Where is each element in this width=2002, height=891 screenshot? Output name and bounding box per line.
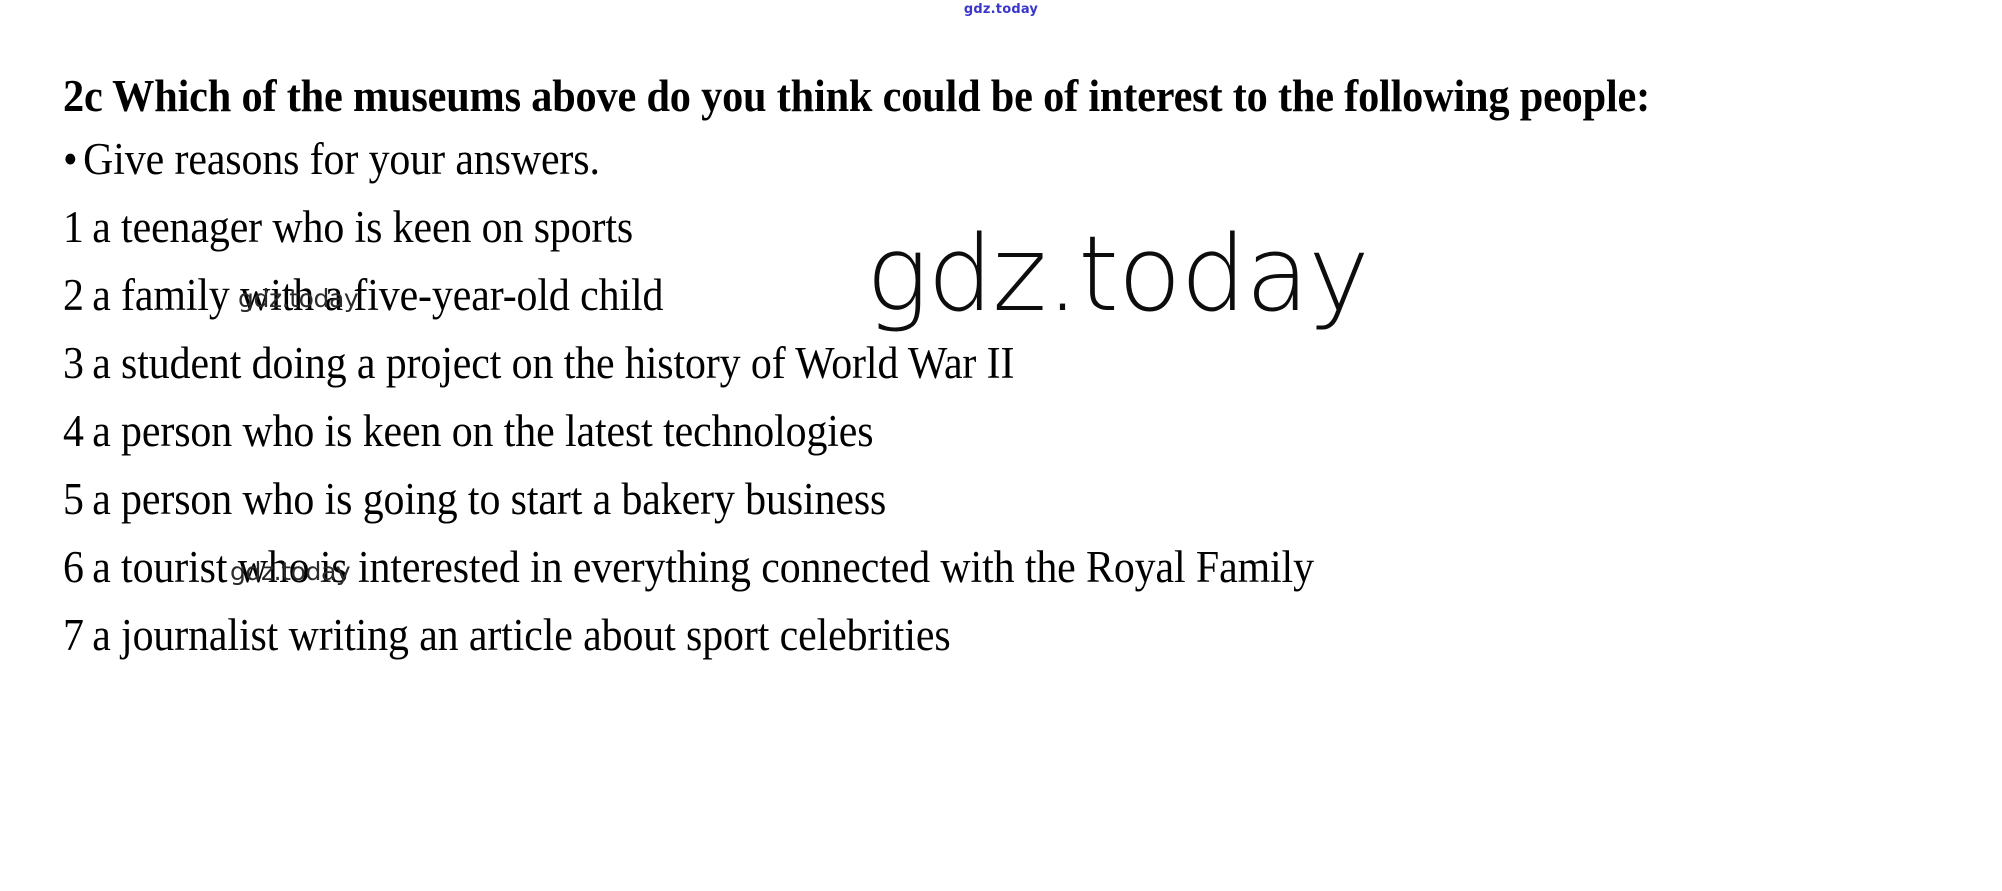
list-item: 3a student doing a project on the histor… bbox=[63, 329, 1830, 397]
watermark-top: gdz.today bbox=[0, 2, 2002, 17]
list-item-text: a journalist writing an article about sp… bbox=[92, 610, 950, 660]
list-item-number: 3 bbox=[63, 329, 84, 397]
instruction-line: •Give reasons for your answers. bbox=[63, 125, 1830, 193]
list-item-number: 5 bbox=[63, 465, 84, 533]
list-item: 2a family with a five-year-old child bbox=[63, 261, 1830, 329]
list-item-text: a person who is going to start a bakery … bbox=[92, 474, 886, 524]
list-item-number: 1 bbox=[63, 193, 84, 261]
page-title: 2c Which of the museums above do you thi… bbox=[63, 70, 1764, 123]
list-item: 5a person who is going to start a bakery… bbox=[63, 465, 1830, 533]
instruction-text: Give reasons for your answers. bbox=[83, 134, 600, 184]
list-item-text: a student doing a project on the history… bbox=[92, 338, 1014, 388]
list-item-text: a person who is keen on the latest techn… bbox=[92, 406, 873, 456]
list-item-text: a tourist who is interested in everythin… bbox=[92, 542, 1314, 592]
list-item: 1a teenager who is keen on sports bbox=[63, 193, 1830, 261]
list-item-text: a family with a five-year-old child bbox=[92, 270, 663, 320]
list-item: 6a tourist who is interested in everythi… bbox=[63, 533, 1830, 601]
list-item-number: 4 bbox=[63, 397, 84, 465]
exercise-content: 2c Which of the museums above do you thi… bbox=[63, 70, 1963, 669]
list-item: 4a person who is keen on the latest tech… bbox=[63, 397, 1830, 465]
bullet-icon: • bbox=[63, 125, 78, 193]
list-item-text: a teenager who is keen on sports bbox=[92, 202, 633, 252]
list-item: 7a journalist writing an article about s… bbox=[63, 601, 1830, 669]
list-item-number: 2 bbox=[63, 261, 84, 329]
document-page: gdz.today 2c Which of the museums above … bbox=[0, 0, 2002, 891]
list-item-number: 7 bbox=[63, 601, 84, 669]
list-item-number: 6 bbox=[63, 533, 84, 601]
